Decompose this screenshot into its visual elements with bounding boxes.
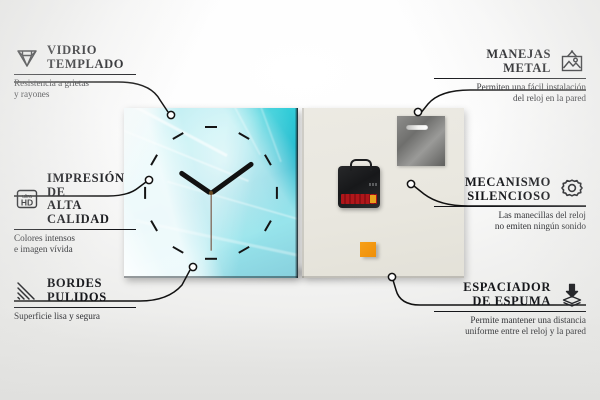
- feature-divider: [14, 229, 136, 230]
- feature-heading: MANEJAS METAL: [434, 48, 586, 75]
- quartz-mechanism-box: [338, 166, 380, 208]
- gear-icon: [558, 177, 586, 203]
- feature-divider: [434, 311, 586, 312]
- tick-mark: [238, 132, 249, 140]
- tick-mark: [144, 187, 146, 199]
- back-panel-left-edge: [302, 108, 304, 278]
- feature-impresion-alta-calidad: ultra HD IMPRESIÓN DE ALTA CALIDAD Color…: [14, 172, 136, 255]
- feature-divider: [434, 206, 586, 207]
- diamond-icon: [14, 46, 40, 70]
- hanging-frame-icon: [558, 49, 586, 75]
- feature-subtitle: Permite mantener una distancia uniforme …: [434, 315, 586, 337]
- tick-mark: [150, 220, 158, 231]
- feature-heading: ultra HD IMPRESIÓN DE ALTA CALIDAD: [14, 172, 136, 226]
- hands-center-cap: [209, 191, 213, 195]
- press-down-pad-icon: [558, 282, 586, 308]
- tick-mark: [172, 246, 183, 254]
- feature-title: BORDES PULIDOS: [47, 277, 107, 304]
- feature-title: MECANISMO SILENCIOSO: [465, 176, 551, 203]
- feature-heading: VIDRIO TEMPLADO: [14, 44, 136, 71]
- feature-divider: [14, 307, 136, 308]
- ultra-hd-icon: ultra HD: [14, 187, 40, 211]
- feature-divider: [14, 74, 136, 75]
- feature-espaciador-espuma: ESPACIADOR DE ESPUMA Permite mantener un…: [434, 281, 586, 337]
- infographic-canvas: VIDRIO TEMPLADO Resistencia a grietas y …: [0, 0, 600, 400]
- ultra-hd-icon-main-text: HD: [21, 198, 33, 208]
- feature-heading: MECANISMO SILENCIOSO: [434, 176, 586, 203]
- feature-subtitle: Superficie lisa y segura: [14, 311, 136, 322]
- feature-manejas-metal: MANEJAS METAL Permiten una fácil instala…: [434, 48, 586, 104]
- tick-mark: [264, 220, 272, 231]
- product-group: [124, 108, 464, 278]
- polished-edges-icon: [14, 279, 40, 303]
- feature-title: ESPACIADOR DE ESPUMA: [463, 281, 551, 308]
- back-panel-bottom-edge: [302, 276, 464, 278]
- feature-title: MANEJAS METAL: [486, 48, 551, 75]
- tick-mark: [205, 258, 217, 260]
- feature-subtitle: Las manecillas del reloj no emiten ningú…: [434, 210, 586, 232]
- foam-spacer: [360, 242, 376, 257]
- tick-mark: [276, 187, 278, 199]
- metal-hanger-plate: [397, 116, 445, 166]
- mechanism-hanging-loop: [350, 159, 372, 171]
- hour-hand: [178, 169, 212, 195]
- feature-title: VIDRIO TEMPLADO: [47, 44, 124, 71]
- feature-subtitle: Colores intensos e imagen vívida: [14, 233, 136, 255]
- clock-dial: [124, 108, 298, 278]
- feature-heading: ESPACIADOR DE ESPUMA: [434, 281, 586, 308]
- feature-heading: BORDES PULIDOS: [14, 277, 136, 304]
- hanger-keyhole-slot: [406, 125, 428, 130]
- feature-subtitle: Permiten una fácil instalación del reloj…: [434, 82, 586, 104]
- tick-mark: [264, 154, 272, 165]
- feature-divider: [434, 78, 586, 79]
- second-hand: [210, 193, 211, 251]
- tick-mark: [150, 154, 158, 165]
- battery-terminal: [370, 195, 376, 203]
- minute-hand: [210, 160, 255, 195]
- glass-right-edge: [295, 108, 298, 278]
- tick-mark: [205, 126, 217, 128]
- feature-vidrio-templado: VIDRIO TEMPLADO Resistencia a grietas y …: [14, 44, 136, 100]
- feature-subtitle: Resistencia a grietas y rayones: [14, 78, 136, 100]
- mechanism-label-marks: [369, 183, 377, 186]
- tick-mark: [172, 132, 183, 140]
- clock-front-panel: [124, 108, 298, 278]
- feature-title: IMPRESIÓN DE ALTA CALIDAD: [47, 172, 136, 226]
- feature-mecanismo-silencioso: MECANISMO SILENCIOSO Las manecillas del …: [434, 176, 586, 232]
- glass-bottom-edge: [124, 276, 298, 278]
- tick-mark: [238, 246, 249, 254]
- feature-bordes-pulidos: BORDES PULIDOS Superficie lisa y segura: [14, 277, 136, 322]
